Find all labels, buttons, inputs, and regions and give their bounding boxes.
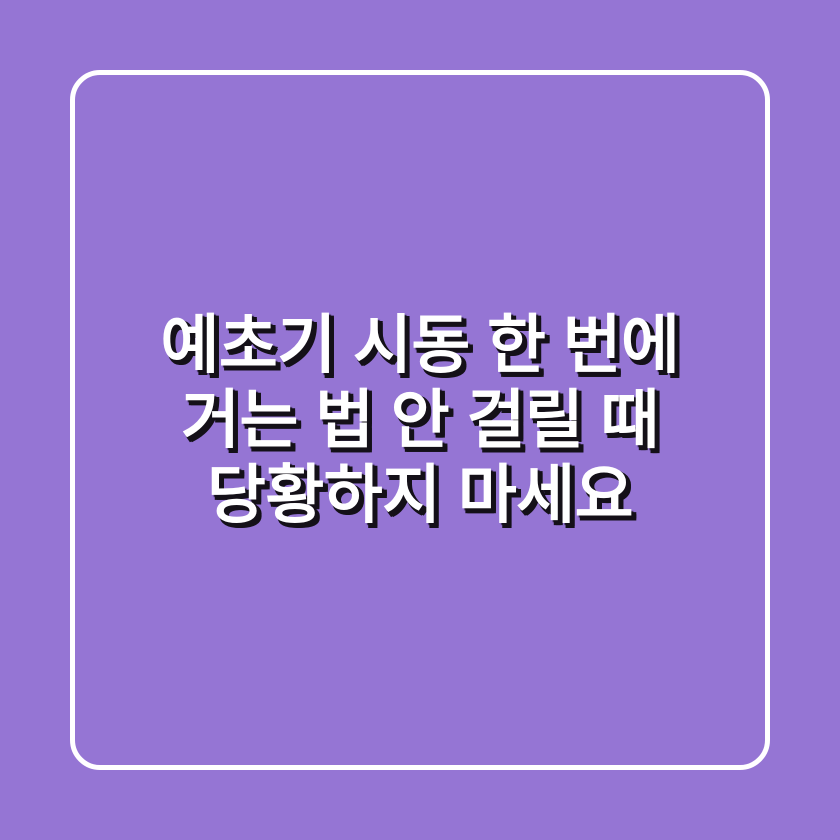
headline-line-2: 거는 법 안 걸릴 때 <box>90 383 750 458</box>
headline-line-3: 당황하지 마세요 <box>90 458 750 533</box>
thumbnail-card: 예초기 시동 한 번에 거는 법 안 걸릴 때 당황하지 마세요 <box>0 0 840 840</box>
headline-line-1: 예초기 시동 한 번에 <box>90 308 750 383</box>
headline-text-block: 예초기 시동 한 번에 거는 법 안 걸릴 때 당황하지 마세요 <box>0 0 840 840</box>
